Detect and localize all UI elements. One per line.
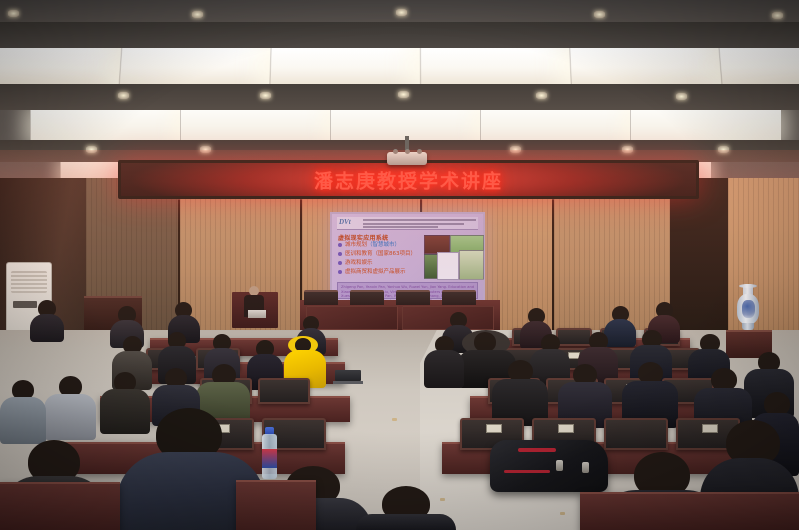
slide-image — [459, 250, 484, 280]
slide-image — [437, 252, 459, 280]
slide-title: 虚拟现实应用系统 — [338, 233, 388, 242]
vase-blue-decoration — [742, 300, 755, 318]
slide-logo: DVt — [339, 218, 351, 226]
audience-laptop — [335, 370, 361, 384]
led-banner: 潘志庚教授学术讲座 — [118, 160, 699, 199]
audience-member — [0, 380, 46, 444]
ceiling-projector — [387, 152, 427, 165]
list-item: 城市规划（智慧城市） — [338, 242, 420, 248]
led-banner-text: 潘志庚教授学术讲座 — [121, 166, 696, 193]
ceiling-beam — [0, 22, 799, 48]
list-item: 医训和教育（国家863项目） — [338, 251, 420, 257]
citation-line: Zhigeng Pan, Yanxin Pan, Yanhua Wu, Ruwe… — [341, 285, 474, 290]
audience-member — [356, 486, 456, 530]
air-conditioner-vent — [11, 271, 47, 293]
slide-bullet-list: 城市规划（智慧城市） 医训和教育（国家863项目） 游戏和娱乐 虚拟商贸和虚拟产… — [338, 242, 420, 278]
audience-member — [44, 376, 96, 440]
ceiling-light-row — [0, 48, 799, 84]
audience-member — [492, 360, 548, 426]
chair-back — [258, 378, 310, 404]
desk-row — [0, 482, 120, 530]
slide-header: DVt — [337, 217, 478, 230]
porcelain-vase — [737, 284, 759, 332]
ceiling-light-row — [0, 110, 799, 140]
list-item: 虚拟商贸和虚拟产品展示 — [338, 269, 420, 275]
desk-row — [580, 492, 799, 530]
chair-back — [604, 418, 668, 450]
audience-member — [30, 300, 64, 340]
audience-member — [424, 336, 464, 388]
podium-laptop — [248, 310, 266, 318]
list-item: 游戏和娱乐 — [338, 260, 420, 266]
desk-row — [236, 480, 316, 530]
backpack — [490, 440, 608, 492]
presentation-slide: DVt 虚拟现实应用系统 城市规划（智慧城市） 医训和教育（国家863项目） 游… — [332, 214, 483, 302]
vase-lip — [739, 284, 757, 288]
vase-foot — [742, 323, 754, 330]
lecture-hall-photo: 潘志庚教授学术讲座 DVt 虚拟现实应用系统 城市规划（智慧城市） 医训和教育（… — [0, 0, 799, 530]
